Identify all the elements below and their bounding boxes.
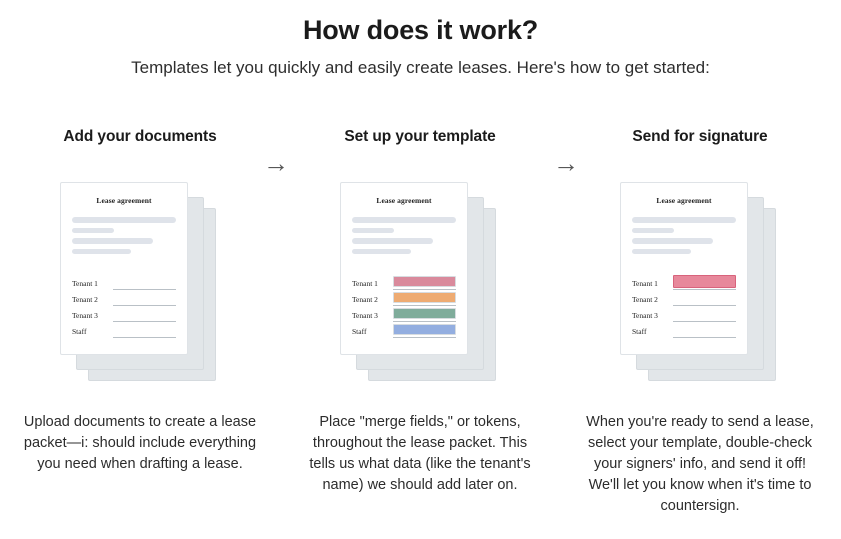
field-label: Tenant 1 bbox=[72, 278, 110, 290]
field-row: Tenant 1 bbox=[72, 274, 176, 290]
arrow-right-icon: → bbox=[546, 148, 586, 178]
document-stack-3: Lease agreement Tenant 1 bbox=[620, 182, 780, 382]
field-label: Staff bbox=[632, 326, 670, 338]
field-line bbox=[393, 327, 456, 338]
field-label: Tenant 3 bbox=[352, 310, 390, 322]
page-title: How does it work? bbox=[0, 14, 841, 48]
merge-field-tenant-3[interactable] bbox=[393, 308, 456, 319]
field-label: Staff bbox=[352, 326, 390, 338]
document-sheet-front: Lease agreement Tenant 1 bbox=[620, 182, 748, 355]
field-row: Tenant 1 bbox=[352, 274, 456, 290]
field-label: Tenant 2 bbox=[72, 294, 110, 306]
text-bar bbox=[632, 228, 674, 234]
merge-field-tenant-1[interactable] bbox=[393, 276, 456, 287]
document-text-placeholders bbox=[72, 217, 176, 254]
field-line bbox=[673, 295, 736, 306]
document-title: Lease agreement bbox=[632, 196, 736, 205]
arrow-right-icon: → bbox=[256, 148, 296, 178]
document-title: Lease agreement bbox=[72, 196, 176, 205]
page-header: How does it work? Templates let you quic… bbox=[0, 0, 841, 79]
field-line bbox=[673, 279, 736, 290]
page-subtitle: Templates let you quickly and easily cre… bbox=[0, 57, 841, 79]
step-column-3: Send for signature Lease agreement Tenan… bbox=[560, 126, 840, 382]
step-column-2: Set up your template Lease agreement Ten… bbox=[280, 126, 560, 382]
signature-fields: Tenant 1 Tenant 2 Tenant 3 bbox=[632, 274, 736, 338]
field-line bbox=[673, 311, 736, 322]
step-heading-1: Add your documents bbox=[0, 126, 280, 148]
text-bar bbox=[72, 217, 176, 223]
document-title: Lease agreement bbox=[352, 196, 456, 205]
field-row: Tenant 2 bbox=[632, 290, 736, 306]
merge-field-tenant-1-active[interactable] bbox=[673, 275, 736, 288]
field-row: Staff bbox=[352, 322, 456, 338]
text-bar bbox=[72, 249, 131, 255]
steps-row: Add your documents Lease agreement Tenan… bbox=[0, 126, 841, 382]
step-caption-1: Upload documents to create a lease packe… bbox=[0, 412, 280, 517]
field-row: Tenant 3 bbox=[352, 306, 456, 322]
document-sheet-front: Lease agreement Tenant 1 Tenant 2 bbox=[60, 182, 188, 355]
text-bar bbox=[352, 228, 394, 234]
merge-field-tenant-2[interactable] bbox=[393, 292, 456, 303]
step-heading-3: Send for signature bbox=[560, 126, 840, 148]
field-row: Staff bbox=[72, 322, 176, 338]
merge-field-staff[interactable] bbox=[393, 324, 456, 335]
field-line bbox=[113, 311, 176, 322]
field-label: Tenant 3 bbox=[72, 310, 110, 322]
how-it-works-page: How does it work? Templates let you quic… bbox=[0, 0, 841, 539]
field-line bbox=[393, 295, 456, 306]
field-line bbox=[393, 311, 456, 322]
document-stack-2: Lease agreement Tenant 1 bbox=[340, 182, 500, 382]
field-label: Tenant 3 bbox=[632, 310, 670, 322]
field-line bbox=[113, 295, 176, 306]
field-row: Tenant 3 bbox=[72, 306, 176, 322]
field-row: Tenant 2 bbox=[352, 290, 456, 306]
field-label: Tenant 1 bbox=[632, 278, 670, 290]
document-text-placeholders bbox=[352, 217, 456, 254]
field-label: Tenant 2 bbox=[352, 294, 390, 306]
field-line bbox=[673, 327, 736, 338]
document-stack-1: Lease agreement Tenant 1 Tenant 2 bbox=[60, 182, 220, 382]
field-label: Tenant 1 bbox=[352, 278, 390, 290]
field-row: Staff bbox=[632, 322, 736, 338]
field-line bbox=[113, 279, 176, 290]
step-column-1: Add your documents Lease agreement Tenan… bbox=[0, 126, 280, 382]
text-bar bbox=[72, 228, 114, 234]
text-bar bbox=[72, 238, 153, 244]
field-row: Tenant 1 bbox=[632, 274, 736, 290]
field-line bbox=[113, 327, 176, 338]
text-bar bbox=[352, 249, 411, 255]
text-bar bbox=[352, 238, 433, 244]
field-row: Tenant 2 bbox=[72, 290, 176, 306]
text-bar bbox=[632, 249, 691, 255]
text-bar bbox=[632, 238, 713, 244]
text-bar bbox=[632, 217, 736, 223]
signature-fields: Tenant 1 Tenant 2 Tenant 3 bbox=[352, 274, 456, 338]
field-row: Tenant 3 bbox=[632, 306, 736, 322]
signature-fields: Tenant 1 Tenant 2 Tenant 3 Staff bbox=[72, 274, 176, 338]
field-label: Tenant 2 bbox=[632, 294, 670, 306]
step-heading-2: Set up your template bbox=[280, 126, 560, 148]
field-label: Staff bbox=[72, 326, 110, 338]
text-bar bbox=[352, 217, 456, 223]
field-line bbox=[393, 279, 456, 290]
step-caption-3: When you're ready to send a lease, selec… bbox=[560, 412, 840, 517]
step-caption-2: Place "merge fields," or tokens, through… bbox=[280, 412, 560, 517]
captions-row: Upload documents to create a lease packe… bbox=[0, 412, 841, 517]
document-text-placeholders bbox=[632, 217, 736, 254]
document-sheet-front: Lease agreement Tenant 1 bbox=[340, 182, 468, 355]
